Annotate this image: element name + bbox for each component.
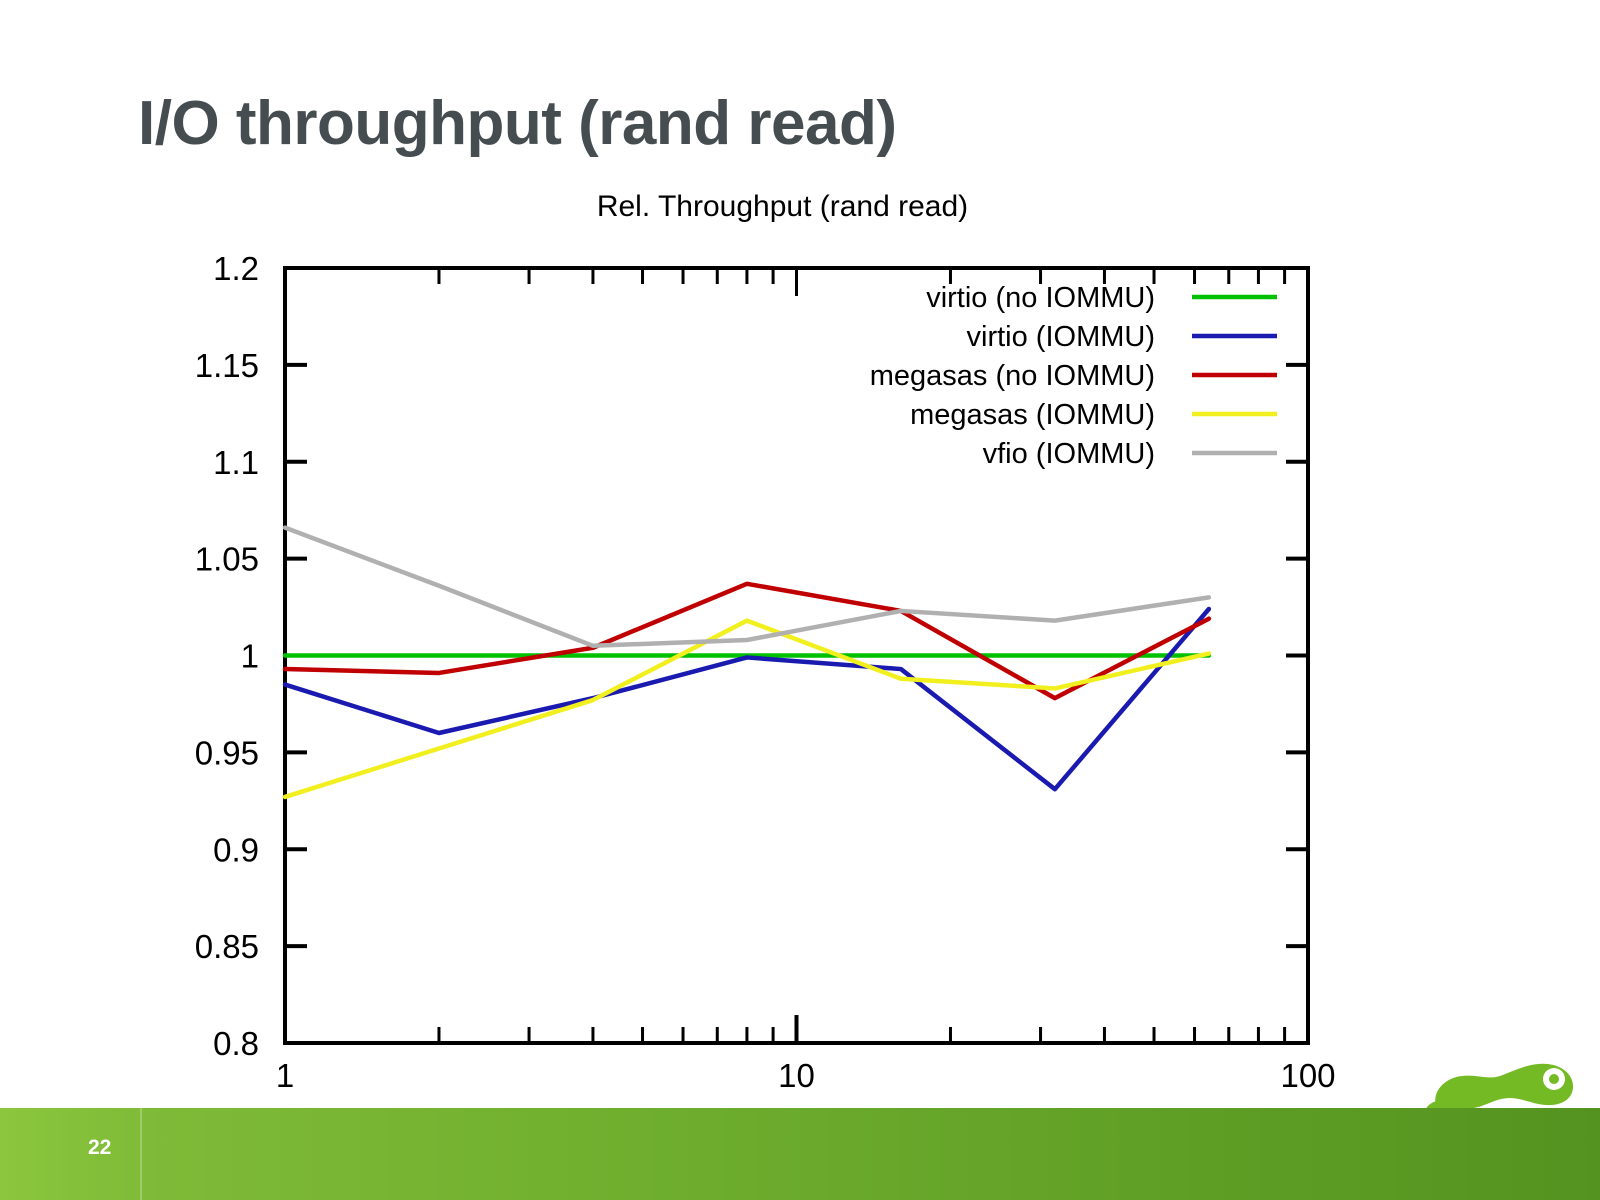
y-tick-label: 1.05 — [195, 541, 259, 578]
x-tick-label: 10 — [778, 1057, 815, 1094]
legend-label: megasas (no IOMMU) — [870, 360, 1155, 392]
y-tick-label: 0.9 — [213, 831, 259, 868]
chart-legend: virtio (no IOMMU)virtio (IOMMU)megasas (… — [870, 282, 1277, 470]
slide: I/O throughput (rand read) Rel. Throughp… — [0, 0, 1600, 1200]
y-tick-label: 1.15 — [195, 347, 259, 384]
legend-label: megasas (IOMMU) — [910, 399, 1155, 431]
y-tick-label: 1 — [241, 638, 259, 675]
data-series-group — [285, 528, 1209, 797]
y-tick-label: 0.85 — [195, 928, 259, 965]
series-line — [285, 609, 1209, 789]
legend-label: virtio (IOMMU) — [967, 321, 1155, 353]
x-tick-label: 100 — [1280, 1057, 1335, 1094]
x-axis-tick-labels: 110100 — [276, 1057, 1336, 1094]
series-line — [285, 528, 1209, 646]
y-tick-label: 0.95 — [195, 734, 259, 771]
y-axis-tick-labels: 0.80.850.90.9511.051.11.151.2 — [195, 250, 259, 1062]
y-tick-label: 0.8 — [213, 1025, 259, 1062]
page-number: 22 — [88, 1136, 111, 1160]
legend-label: vfio (IOMMU) — [983, 438, 1155, 470]
x-tick-label: 1 — [276, 1057, 294, 1094]
y-tick-label: 1.1 — [213, 444, 259, 481]
chart-container: Rel. Throughput (rand read) 0.80.850.90.… — [0, 0, 1600, 1100]
footer-seam — [140, 1108, 142, 1200]
legend-label: virtio (no IOMMU) — [926, 282, 1155, 314]
footer-bar: 22 — [0, 1108, 1600, 1200]
y-tick-label: 1.2 — [213, 250, 259, 287]
line-chart: 0.80.850.90.9511.051.11.151.2 110100 vir… — [0, 0, 1600, 1100]
